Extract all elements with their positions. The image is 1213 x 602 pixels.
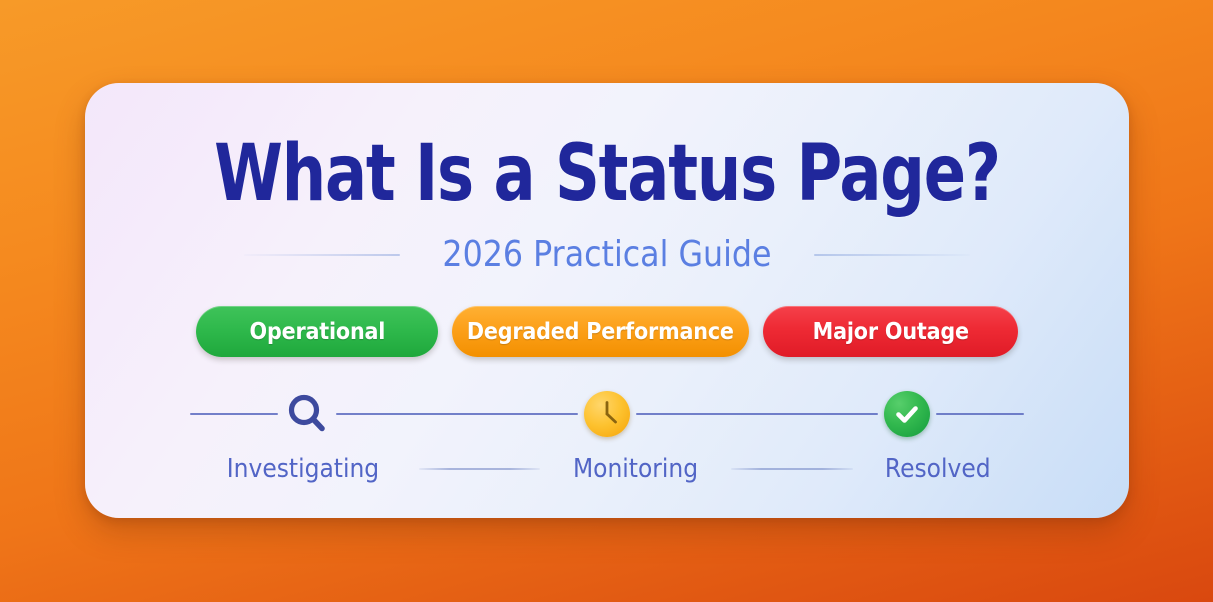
incident-timeline: Investigating Monitoring Resolved bbox=[190, 385, 1024, 490]
subtitle-rule-left bbox=[244, 254, 400, 256]
timeline-label-investigating: Investigating bbox=[227, 453, 385, 485]
status-pill-row: Operational Degraded Performance Major O… bbox=[85, 306, 1129, 357]
timeline-label-connector-2 bbox=[731, 468, 852, 470]
status-badge-operational-label: Operational bbox=[249, 319, 385, 345]
subtitle-rule-right bbox=[814, 254, 970, 256]
timeline-track-1 bbox=[336, 413, 578, 415]
timeline-node-investigating[interactable] bbox=[278, 385, 336, 443]
timeline-icon-row bbox=[190, 385, 1024, 443]
timeline-label-connector-1 bbox=[419, 468, 540, 470]
status-badge-degraded[interactable]: Degraded Performance bbox=[452, 306, 749, 357]
status-badge-operational[interactable]: Operational bbox=[196, 306, 438, 357]
timeline-node-resolved[interactable] bbox=[878, 385, 936, 443]
status-badge-outage[interactable]: Major Outage bbox=[763, 306, 1018, 357]
timeline-label-resolved: Resolved bbox=[884, 453, 990, 485]
timeline-track-end bbox=[936, 413, 1024, 415]
status-badge-outage-label: Major Outage bbox=[812, 319, 968, 345]
status-badge-degraded-label: Degraded Performance bbox=[467, 319, 734, 345]
check-circle-icon bbox=[884, 391, 930, 437]
timeline-node-monitoring[interactable] bbox=[578, 385, 636, 443]
clock-hands-icon bbox=[584, 391, 630, 437]
timeline-track-2 bbox=[636, 413, 878, 415]
page-subtitle: 2026 Practical Guide bbox=[442, 233, 771, 277]
clock-icon bbox=[584, 391, 630, 437]
subtitle-row: 2026 Practical Guide bbox=[85, 231, 1129, 279]
timeline-track-start bbox=[190, 413, 278, 415]
checkmark-icon bbox=[892, 399, 922, 429]
timeline-label-row: Investigating Monitoring Resolved bbox=[190, 449, 1024, 489]
magnifier-icon bbox=[284, 391, 330, 437]
infographic-card: What Is a Status Page? 2026 Practical Gu… bbox=[85, 83, 1129, 518]
timeline-label-monitoring: Monitoring bbox=[573, 453, 698, 485]
page-title: What Is a Status Page? bbox=[189, 130, 1024, 218]
